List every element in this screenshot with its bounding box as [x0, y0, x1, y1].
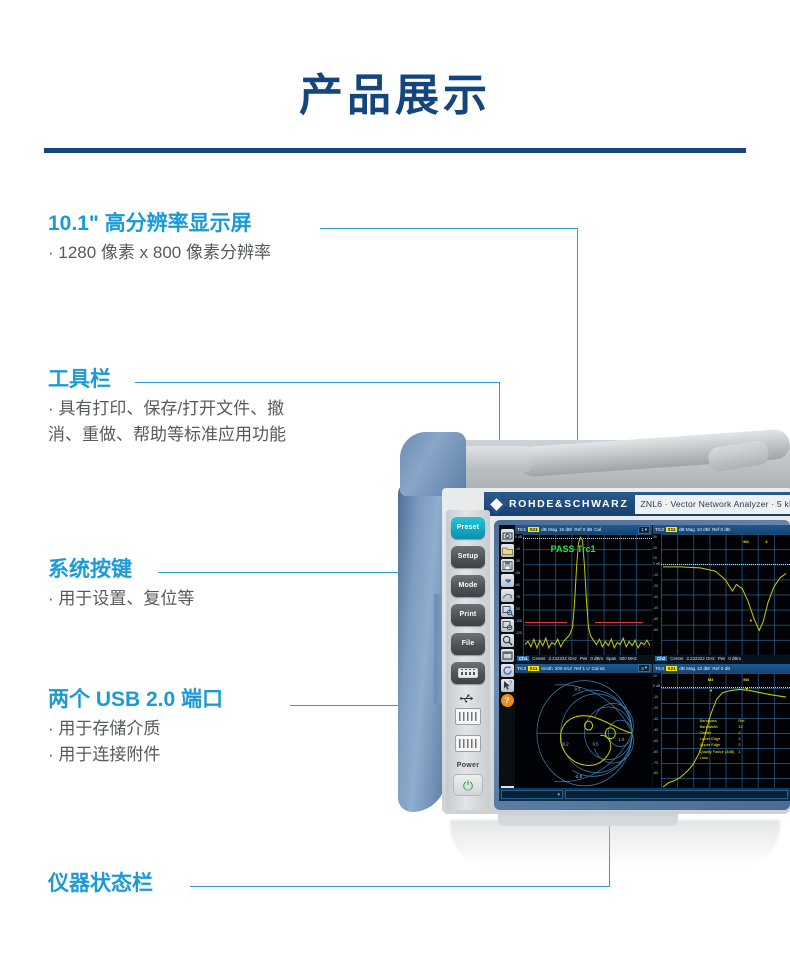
y-tick: -50: [653, 740, 658, 743]
selector-value: 1: [641, 527, 644, 532]
trace-format: Smith: [541, 666, 553, 671]
callout-toolbar-bullet-1: · 具有打印、保存/打开文件、撤: [48, 396, 286, 422]
y-tick: -45: [515, 572, 520, 575]
callout-status-bar-heading: 仪器状态栏: [48, 872, 153, 895]
marker-flag-m3: ▼: [709, 688, 713, 693]
trace-sparam: S11: [528, 666, 539, 671]
diagram-grid: Trc1 S21 dB Mag 15 dB/ Ref 0 dB Cal 1 ▾: [515, 525, 790, 801]
refresh-icon[interactable]: [501, 664, 514, 677]
usb-port-2[interactable]: [455, 735, 481, 752]
zoom-select-icon[interactable]: [501, 604, 514, 617]
smith-label: 0.5: [592, 741, 598, 746]
y-tick: -60: [653, 751, 658, 754]
undo-arrow-icon[interactable]: [501, 574, 514, 587]
callout-system-keys-heading: 系统按键: [48, 558, 194, 581]
smith-label: -0.5: [575, 773, 583, 778]
marker-label-2: 2: [765, 539, 767, 544]
callout-display: 10.1" 高分辨率显示屏 · 1280 像素 x 800 像素分辨率: [48, 212, 271, 266]
callout-system-keys-bullet-1: · 用于设置、复位等: [48, 586, 194, 612]
preset-key[interactable]: Preset: [451, 517, 485, 539]
bp-name: Loss: [700, 755, 739, 761]
power-icon: ⏻: [463, 779, 473, 792]
status-field-right[interactable]: [565, 790, 788, 799]
usb-port-1[interactable]: [455, 708, 481, 725]
instrument-reflection: [450, 820, 780, 866]
y-tick: -60: [515, 584, 520, 587]
usb-symbol-icon: [459, 694, 477, 704]
trace-name: Trc4: [655, 666, 664, 671]
mode-key[interactable]: Mode: [451, 575, 485, 597]
trace-ref: Ref 0 dB: [712, 527, 730, 532]
lcd-display[interactable]: ? ? Trc1 S21 dB Mag 15 dB/ Ref 0 dB: [499, 525, 790, 801]
power-value: 0 dBm: [590, 656, 603, 661]
trace-curve-trc2: [661, 534, 790, 655]
center-label: Center: [670, 656, 683, 661]
file-key[interactable]: File: [451, 633, 485, 655]
trace-sparam: S21: [666, 666, 677, 671]
trace-cal: Cal: [594, 527, 601, 532]
trace-sparam: S11: [666, 527, 677, 532]
usb-trident-icon: [460, 694, 476, 703]
y-tick: -15: [515, 548, 520, 551]
center-value: 2.222222 GHz: [686, 656, 714, 661]
pointer-help-icon[interactable]: ?: [501, 679, 514, 692]
trace-name: Trc1: [517, 527, 526, 532]
callout-status-bar: 仪器状态栏: [48, 872, 153, 895]
trace-format: dB Mag: [679, 527, 695, 532]
y-tick: -40: [653, 729, 658, 732]
brand-strip: ROHDE&SCHWARZ ZNL6 · Vector Network Anal…: [484, 492, 790, 516]
marker-flag-m4: ▼: [745, 686, 749, 691]
leader-line-status-h: [190, 886, 610, 887]
span-label: Span: [606, 656, 616, 661]
channel-footer-ch1[interactable]: Ch1 Center 2.222222 GHz Pwr 0 dBm Span 5…: [515, 655, 652, 663]
y-tick: 10: [653, 557, 657, 560]
trace-header-trc4[interactable]: Trc4 S21 dB Mag 10 dB/ Ref 0 dB: [653, 664, 790, 673]
power-label-ch: Pwr: [718, 656, 726, 661]
y-tick: -10: [653, 696, 658, 699]
page-title: 产品展示: [0, 74, 790, 118]
plot-trc2: 30 20 10 0 dB -10 -20 -30 -40 -50 -60: [653, 534, 790, 655]
title-divider: [44, 148, 746, 153]
redo-arrow-icon[interactable]: [501, 589, 514, 602]
application-toolbar: ? ?: [499, 525, 515, 801]
bp-value: [738, 755, 748, 761]
diagram-trc4[interactable]: Trc4 S21 dB Mag 10 dB/ Ref 0 dB 10 0 dB …: [653, 664, 790, 802]
power-value: 0 dBm: [728, 656, 741, 661]
chevron-down-icon: ▾: [645, 665, 647, 671]
keyboard-icon: [458, 668, 478, 678]
callout-usb-bullet-2: · 用于连接附件: [48, 742, 223, 768]
save-disk-icon[interactable]: [501, 559, 514, 572]
marker-label-m1: M1: [743, 539, 749, 544]
smith-label: 0.2: [563, 741, 569, 746]
diagram-trc3[interactable]: Trc3 S11 Smith 200 mU/ Ref 1 U Cal int 3…: [515, 664, 652, 802]
trace-header-trc1[interactable]: Trc1 S21 dB Mag 15 dB/ Ref 0 dB Cal 1 ▾: [515, 525, 652, 534]
trace-selector[interactable]: 3 ▾: [638, 664, 650, 672]
callout-toolbar-bullet-2: 消、重做、帮助等标准应用功能: [48, 422, 286, 448]
trace-scale: 15 dB/: [559, 527, 572, 532]
brand-name: ROHDE&SCHWARZ: [509, 498, 628, 510]
open-folder-icon[interactable]: [501, 544, 514, 557]
trace-selector[interactable]: 1 ▾: [638, 526, 650, 534]
y-tick: -10: [653, 574, 658, 577]
callout-usb-heading: 两个 USB 2.0 端口: [48, 688, 223, 711]
plot-trc3-smith: 0.5 0.2 0.5 1.0 -0.5: [515, 673, 652, 794]
callout-toolbar: 工具栏 · 具有打印、保存/打开文件、撤 消、重做、帮助等标准应用功能: [48, 368, 286, 449]
marker-label-m4: M4: [743, 677, 749, 682]
y-tick: -105: [515, 620, 522, 623]
trace-scale: 10 dB/: [697, 666, 710, 671]
channel-name: Ch1: [517, 656, 529, 661]
zoom-out-icon[interactable]: [501, 619, 514, 632]
y-tick: -40: [653, 607, 658, 610]
setup-key[interactable]: Setup: [451, 546, 485, 568]
callout-display-heading: 10.1" 高分辨率显示屏: [48, 212, 271, 235]
rohde-schwarz-logo-icon: [487, 495, 505, 513]
help-icon[interactable]: ?: [501, 694, 514, 707]
y-tick: -30: [515, 560, 520, 563]
print-key[interactable]: Print: [451, 604, 485, 626]
chevron-down-icon: ▾: [645, 527, 647, 533]
marker-flag-m1: ▼: [749, 618, 753, 623]
y-tick: 30: [653, 536, 657, 539]
y-tick: -90: [515, 608, 520, 611]
y-tick: 0 dB: [653, 685, 660, 688]
svg-text:?: ?: [509, 681, 513, 687]
selector-value: 3: [641, 666, 644, 671]
trace-sparam: S21: [528, 527, 539, 532]
span-value: 500 MHz: [619, 656, 637, 661]
diagram-trc1[interactable]: Trc1 S21 dB Mag 15 dB/ Ref 0 dB Cal 1 ▾: [515, 525, 652, 663]
status-field-left[interactable]: ▾: [501, 790, 563, 799]
trace-format: dB Mag: [541, 527, 557, 532]
trace-ref: Ref 0 dB: [712, 666, 730, 671]
magnifier-icon[interactable]: [501, 634, 514, 647]
trace-scale: 200 mU/: [555, 666, 572, 671]
power-label-ch: Pwr: [580, 656, 588, 661]
callout-usb: 两个 USB 2.0 端口 · 用于存储介质 · 用于连接附件: [48, 688, 223, 769]
model-plate: ZNL6 · Vector Network Analyzer · 5 kHz -…: [635, 495, 790, 514]
bandpass-result-table: BandpassRef Bandwidth12 Center2 Lower Ed…: [700, 718, 749, 760]
plot-trc1: 0 dB -15 -30 -45 -60 -75 -90 -105 -120: [515, 534, 652, 655]
callout-system-keys: 系统按键 · 用于设置、复位等: [48, 558, 194, 612]
bp-name: Quality Factor (3dB): [700, 749, 739, 755]
y-tick: -30: [653, 718, 658, 721]
trace-format: dB Mag: [679, 666, 695, 671]
y-tick: -70: [653, 762, 658, 765]
y-tick: 0 dB: [653, 563, 660, 566]
channel-name: Ch2: [655, 656, 667, 661]
callout-display-bullet-1: · 1280 像素 x 800 像素分辨率: [48, 240, 271, 266]
y-tick: -50: [653, 618, 658, 621]
y-tick: 0 dB: [515, 536, 522, 539]
power-label: Power: [446, 762, 490, 769]
instrument-status-bar[interactable]: ▾: [499, 788, 790, 801]
y-tick: 20: [653, 547, 657, 550]
trace-scale: 10 dB/: [697, 527, 710, 532]
plot-trc4: 10 0 dB -10 -20 -30 -40 -50 -60 -70 -80: [653, 673, 790, 794]
y-tick: -30: [653, 596, 658, 599]
center-value: 2.222222 GHz: [548, 656, 576, 661]
trace-header-trc3[interactable]: Trc3 S11 Smith 200 mU/ Ref 1 U Cal int 3…: [515, 664, 652, 673]
trace-cal: Cal int: [592, 666, 605, 671]
channel-footer-ch2[interactable]: Ch2 Center 2.222222 GHz Pwr 0 dBm: [653, 655, 790, 663]
pass-indicator: PASS Trc1: [551, 544, 596, 554]
smith-label: 0.5: [575, 686, 581, 691]
y-tick: -75: [515, 596, 520, 599]
diagram-trc2[interactable]: Trc2 S11 dB Mag 10 dB/ Ref 0 dB 30 20 10: [653, 525, 790, 663]
trace-name: Trc2: [655, 527, 664, 532]
window-icon[interactable]: [501, 649, 514, 662]
smith-chart: 0.5 0.2 0.5 1.0 -0.5: [523, 673, 652, 794]
leader-line-display-h: [320, 228, 578, 229]
instrument-photo: ROHDE&SCHWARZ ZNL6 · Vector Network Anal…: [398, 424, 790, 874]
leader-line-toolbar-h: [135, 382, 500, 383]
callout-toolbar-heading: 工具栏: [48, 368, 286, 391]
trace-ref: Ref 1 U: [574, 666, 590, 671]
trace-header-trc2[interactable]: Trc2 S11 dB Mag 10 dB/ Ref 0 dB: [653, 525, 790, 534]
y-tick: 10: [653, 675, 657, 678]
trace-name: Trc3: [517, 666, 526, 671]
system-keys-panel: Preset Setup Mode Print File Power ⏻: [446, 510, 490, 810]
callout-usb-bullet-1: · 用于存储介质: [48, 716, 223, 742]
marker-label-m3: M3: [708, 677, 714, 682]
trace-ref: Ref 0 dB: [574, 527, 592, 532]
y-tick: -120: [515, 632, 522, 635]
camera-icon[interactable]: [501, 529, 514, 542]
power-button[interactable]: ⏻: [453, 774, 483, 796]
instrument-top-bumper: [400, 432, 466, 496]
y-tick: -20: [653, 585, 658, 588]
y-tick: -80: [653, 772, 658, 775]
y-tick: -20: [653, 707, 658, 710]
smith-label: 1.0: [618, 736, 624, 741]
keyboard-key[interactable]: [451, 662, 485, 684]
y-tick: -60: [653, 629, 658, 632]
center-label: Center: [532, 656, 545, 661]
bandpass-row: Loss: [700, 755, 749, 761]
